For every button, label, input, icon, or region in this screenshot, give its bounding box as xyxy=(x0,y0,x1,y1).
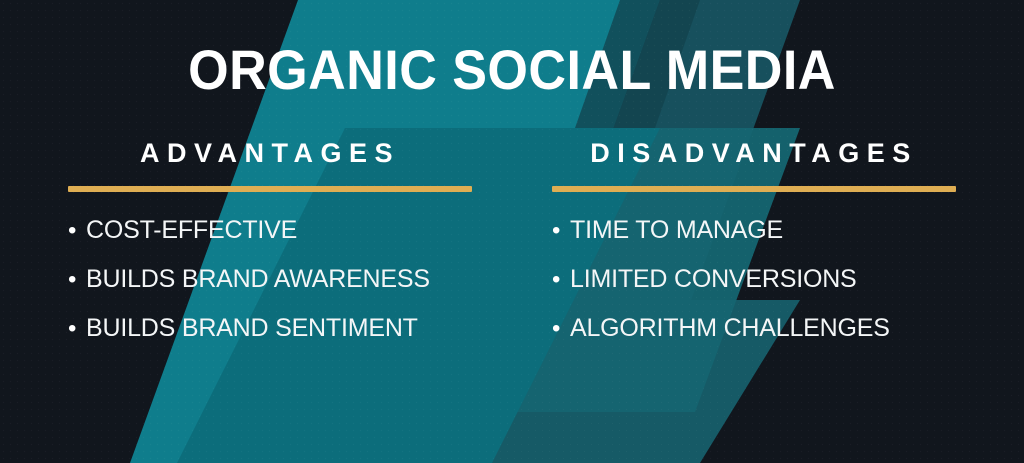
column-advantages: ADVANTAGES • COST-EFFECTIVE • BUILDS BRA… xyxy=(0,140,512,365)
column-heading-disadvantages: DISADVANTAGES xyxy=(552,140,956,167)
list-item-label: ALGORITHM CHALLENGES xyxy=(570,316,956,341)
bullet-icon: • xyxy=(552,219,570,243)
list-item: • BUILDS BRAND AWARENESS xyxy=(68,267,472,292)
list-item: • ALGORITHM CHALLENGES xyxy=(552,316,956,341)
list-item-label: BUILDS BRAND SENTIMENT xyxy=(86,316,472,341)
slide-title: ORGANIC SOCIAL MEDIA xyxy=(36,42,988,98)
disadvantages-list: • TIME TO MANAGE • LIMITED CONVERSIONS •… xyxy=(552,218,956,341)
list-item-label: COST-EFFECTIVE xyxy=(86,218,472,243)
slide-canvas: ORGANIC SOCIAL MEDIA ADVANTAGES • COST-E… xyxy=(0,0,1024,463)
bullet-icon: • xyxy=(68,268,86,292)
bullet-icon: • xyxy=(552,268,570,292)
list-item-label: TIME TO MANAGE xyxy=(570,218,956,243)
advantages-list: • COST-EFFECTIVE • BUILDS BRAND AWARENES… xyxy=(68,218,472,341)
bullet-icon: • xyxy=(552,317,570,341)
list-item: • LIMITED CONVERSIONS xyxy=(552,267,956,292)
comparison-columns: ADVANTAGES • COST-EFFECTIVE • BUILDS BRA… xyxy=(0,140,1024,365)
list-item-label: BUILDS BRAND AWARENESS xyxy=(86,267,472,292)
bullet-icon: • xyxy=(68,219,86,243)
list-item-label: LIMITED CONVERSIONS xyxy=(570,267,956,292)
bullet-icon: • xyxy=(68,317,86,341)
column-heading-advantages: ADVANTAGES xyxy=(68,140,472,167)
list-item: • TIME TO MANAGE xyxy=(552,218,956,243)
column-disadvantages: DISADVANTAGES • TIME TO MANAGE • LIMITED… xyxy=(512,140,1024,365)
heading-underline-advantages xyxy=(68,186,472,192)
list-item: • COST-EFFECTIVE xyxy=(68,218,472,243)
slide-content: ORGANIC SOCIAL MEDIA ADVANTAGES • COST-E… xyxy=(0,0,1024,463)
heading-underline-disadvantages xyxy=(552,186,956,192)
list-item: • BUILDS BRAND SENTIMENT xyxy=(68,316,472,341)
